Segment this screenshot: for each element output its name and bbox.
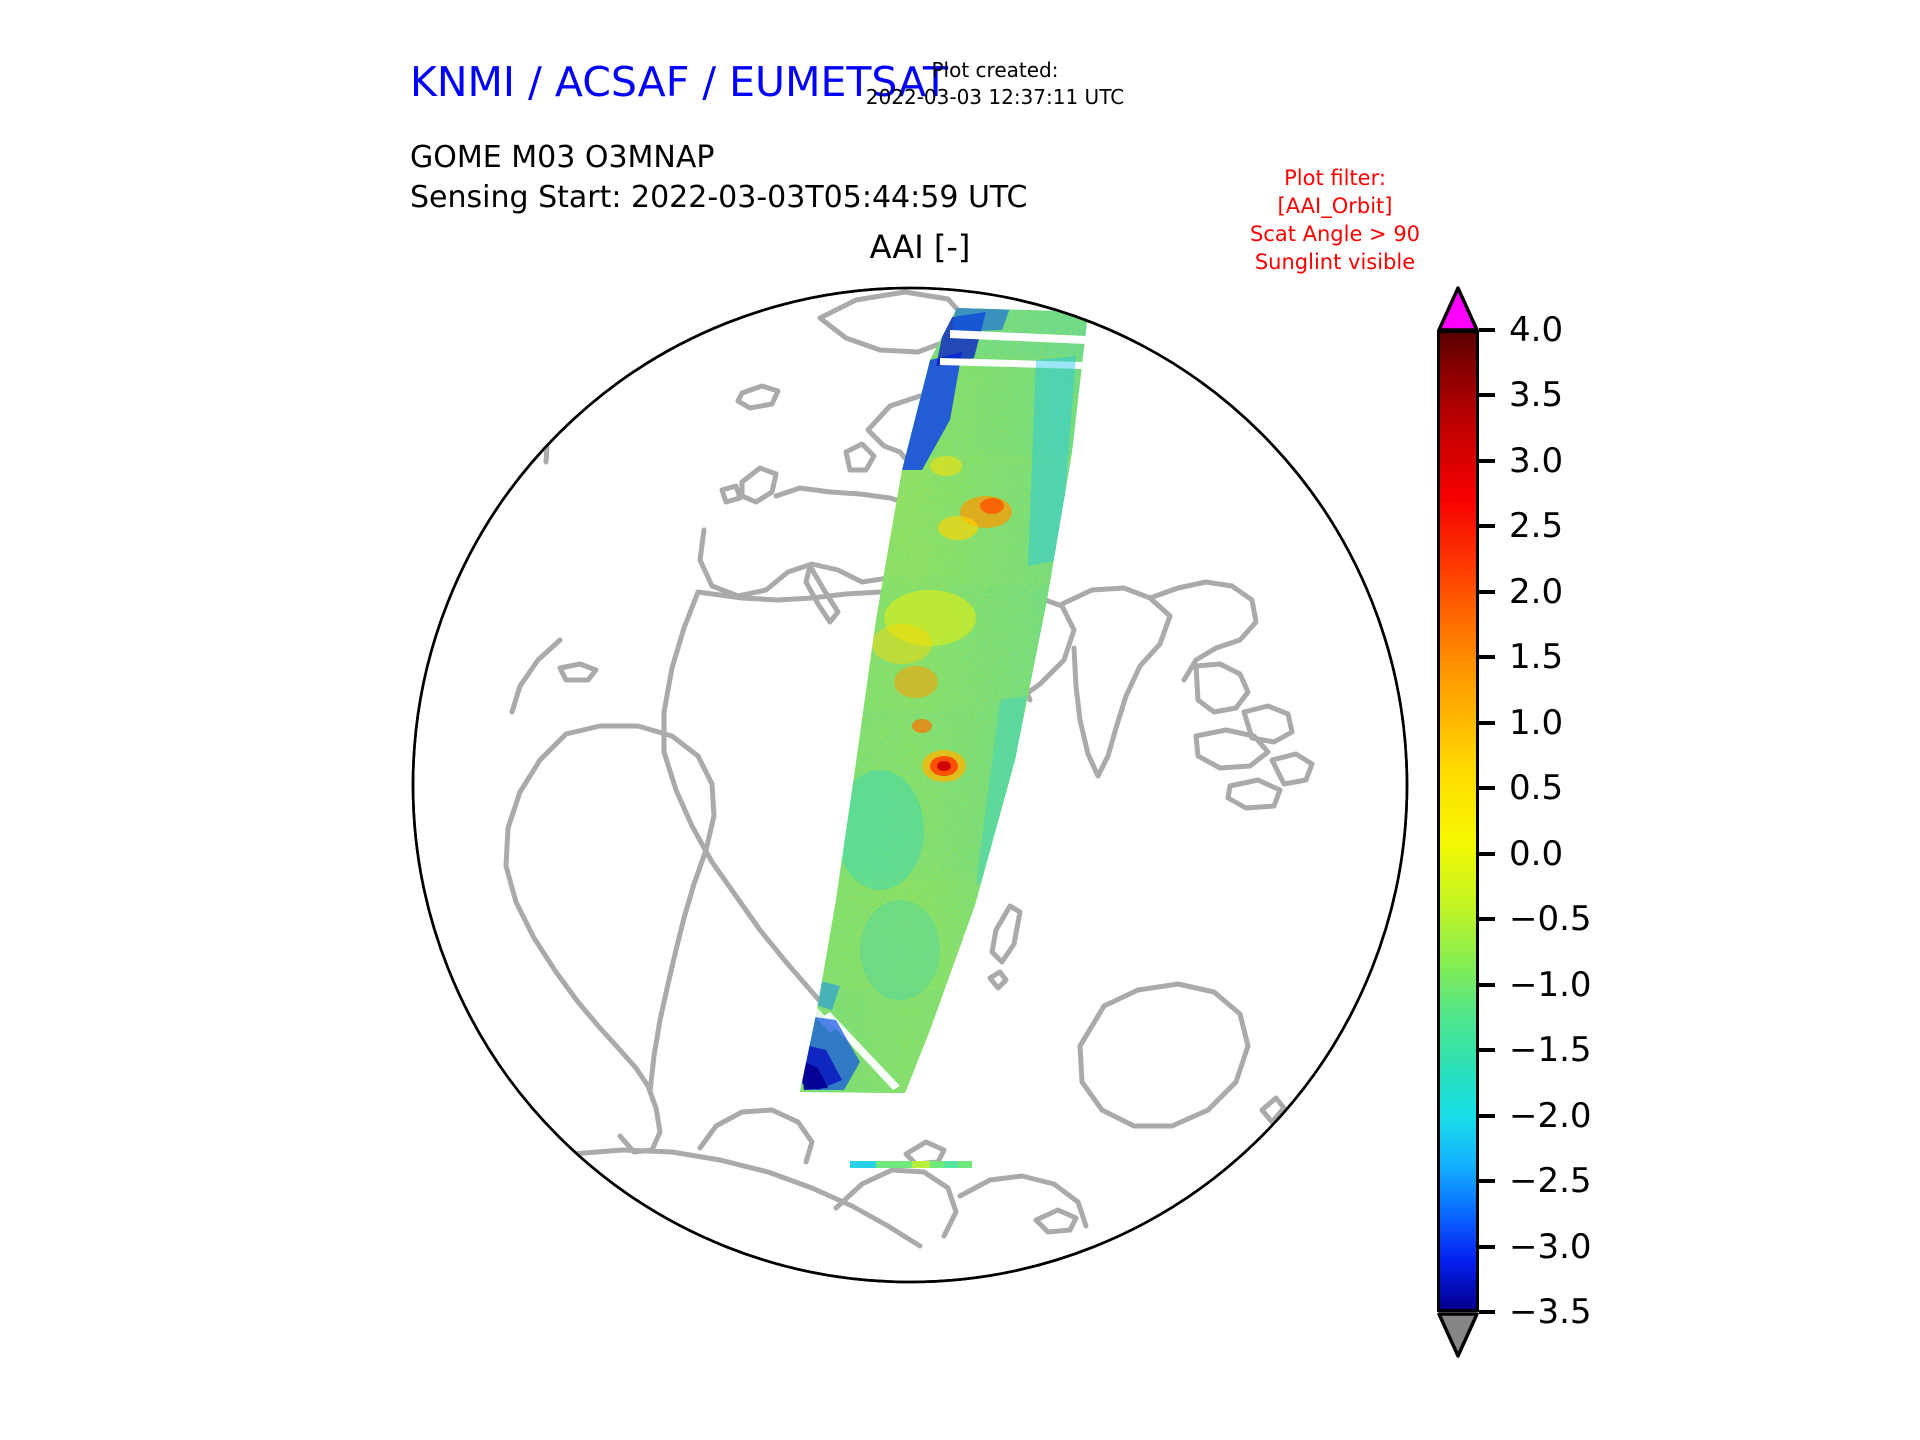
colorbar-tick-label: −3.0: [1509, 1230, 1592, 1264]
orthographic-globe: [0, 0, 1920, 1440]
colorbar-tick-label: 2.5: [1509, 509, 1563, 543]
colorbar-tick-mark: [1479, 328, 1495, 332]
colorbar-tick-mark: [1479, 1310, 1495, 1314]
colorbar-tick-mark: [1479, 459, 1495, 463]
colorbar-tick-mark: [1479, 655, 1495, 659]
colorbar-under-arrow: [1437, 1310, 1479, 1358]
colorbar-gradient: [1437, 330, 1479, 1312]
map-canvas[interactable]: [0, 0, 1920, 1440]
colorbar-tick-mark: [1479, 786, 1495, 790]
colorbar-tick-label: −2.0: [1509, 1099, 1592, 1133]
colorbar-tick-mark: [1479, 1179, 1495, 1183]
colorbar-tick-label: 3.5: [1509, 378, 1563, 412]
colorbar-tick-mark: [1479, 852, 1495, 856]
colorbar-tick-mark: [1479, 590, 1495, 594]
colorbar-tick-mark: [1479, 917, 1495, 921]
colorbar-tick-label: 1.0: [1509, 706, 1563, 740]
colorbar-tick-label: 0.0: [1509, 837, 1563, 871]
colorbar-tick-label: 1.5: [1509, 640, 1563, 674]
colorbar-tick-mark: [1479, 983, 1495, 987]
colorbar-tick-label: 4.0: [1509, 313, 1563, 347]
colorbar-tick-label: 3.0: [1509, 444, 1563, 478]
colorbar-tick-label: −1.5: [1509, 1033, 1592, 1067]
colorbar-tick-mark: [1479, 1245, 1495, 1249]
colorbar-tick-label: −3.5: [1509, 1295, 1592, 1329]
colorbar-tick-label: 0.5: [1509, 771, 1563, 805]
colorbar-tick-mark: [1479, 393, 1495, 397]
detached-scanline: [850, 1161, 972, 1168]
colorbar-tick-mark: [1479, 1114, 1495, 1118]
colorbar-tick-label: −2.5: [1509, 1164, 1592, 1198]
colorbar-tick-mark: [1479, 1048, 1495, 1052]
colorbar-tick-mark: [1479, 524, 1495, 528]
colorbar-over-arrow: [1437, 286, 1479, 332]
colorbar-tick-label: 2.0: [1509, 575, 1563, 609]
colorbar-tick-mark: [1479, 721, 1495, 725]
colorbar-tick-label: −0.5: [1509, 902, 1592, 936]
colorbar-tick-label: −1.0: [1509, 968, 1592, 1002]
